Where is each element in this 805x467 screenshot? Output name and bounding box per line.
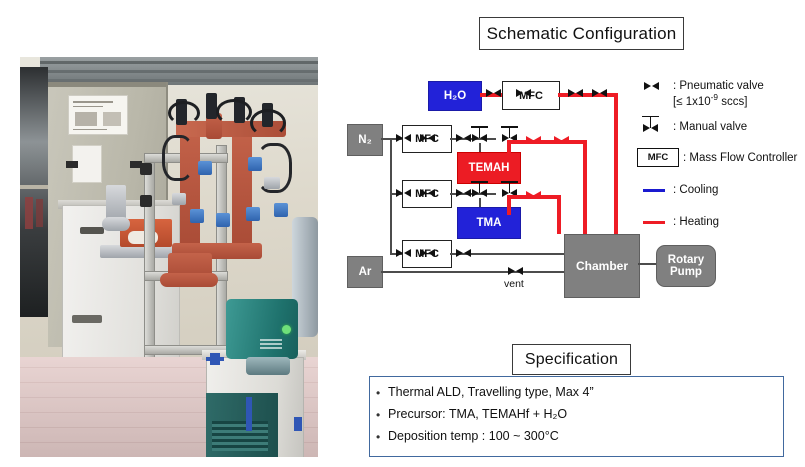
photo-blue-tape — [294, 417, 302, 431]
bullet-icon: • — [376, 408, 380, 422]
photo-frame-bracket — [140, 195, 152, 207]
photo-solenoid-valve — [248, 157, 262, 171]
photo-fitting — [172, 193, 186, 205]
photo-fitting — [264, 177, 280, 189]
heated-line-mfc-main — [558, 93, 618, 97]
pneumatic-valve-vent — [508, 267, 523, 276]
spec-item: • Thermal ALD, Travelling type, Max 4” — [388, 385, 783, 399]
schematic-title: Schematic Configuration — [479, 17, 684, 50]
heated-line-temah-to-main — [507, 140, 587, 144]
pneumatic-valve-temah-in — [456, 134, 471, 143]
photo-blue-tape — [246, 397, 252, 431]
cooling-line-icon — [637, 181, 673, 199]
pneumatic-valve-n2-2a — [396, 189, 411, 198]
pneumatic-valve-n2-1b — [420, 134, 435, 143]
pneumatic-valve-tma-out — [526, 191, 541, 200]
node-chamber: Chamber — [564, 234, 640, 298]
photo-pump-label — [260, 339, 282, 349]
pneumatic-valve-tma-in — [456, 189, 471, 198]
photo-reactor-flange — [160, 273, 218, 287]
spec-item: • Precursor: TMA, TEMAHf + H₂O — [388, 407, 783, 421]
photo-ceiling-rail — [40, 70, 318, 73]
photo-pump-handle — [246, 357, 290, 375]
spec-text: Thermal ALD, Travelling type, Max 4” — [388, 385, 594, 399]
pneumatic-valve-purge — [456, 249, 471, 258]
photo-window-object — [25, 197, 33, 229]
vent-label: vent — [504, 278, 524, 290]
photo-pump-indicator — [282, 325, 291, 334]
wire-n2-manifold — [390, 138, 392, 254]
pneumatic-valve-h2o-in — [486, 89, 501, 98]
legend-label-mfc: : Mass Flow Controller — [683, 150, 797, 165]
photo-cable-loop — [250, 109, 286, 137]
pneumatic-valve-h2o-out — [516, 89, 531, 98]
photo-window — [20, 67, 48, 317]
legend-label-cooling: : Cooling — [673, 182, 718, 197]
photo-cabinet-vent — [66, 161, 78, 168]
photo-reactor-column — [232, 123, 252, 251]
spec-text: Deposition temp : 100 ~ 300°C — [388, 429, 559, 443]
legend-sublabel-pneumatic-valve: [≤ 1x10-9 sccs] — [673, 93, 764, 109]
node-tma: TMA — [457, 207, 521, 239]
node-rotary-pump: Rotary Pump — [656, 245, 716, 287]
wire-ar-to-chamber — [381, 271, 564, 273]
manual-valve-tma-in — [471, 181, 488, 198]
bullet-icon: • — [376, 386, 380, 400]
legend-row-manual-valve: : Manual valve — [637, 116, 805, 134]
node-ar: Ar — [347, 256, 383, 288]
pneumatic-valve-temah-out — [526, 136, 541, 145]
specification-title: Specification — [512, 344, 631, 375]
pneumatic-valve-h2o-line — [568, 89, 583, 98]
heated-line-temah-down — [583, 140, 587, 234]
node-n2: N₂ — [347, 124, 383, 156]
spec-item: • Deposition temp : 100 ~ 300°C — [388, 429, 783, 443]
photo-solenoid-valve — [190, 209, 204, 223]
heated-line-main-down — [614, 93, 618, 234]
legend-row-heating: : Heating — [637, 213, 805, 231]
bullet-icon: • — [376, 430, 380, 444]
photo-cabinet-top — [48, 82, 166, 87]
pneumatic-valve-n2-3a — [396, 249, 411, 258]
pneumatic-valve-icon — [637, 78, 673, 96]
photo-chiller-vent — [212, 421, 268, 451]
photo-cable-loop — [162, 135, 194, 181]
photo-ceiling-rail — [40, 61, 318, 64]
pneumatic-valve-n2-2b — [420, 189, 435, 198]
legend-label-manual-valve: : Manual valve — [673, 116, 747, 134]
photo-cabinet-handle — [80, 227, 104, 234]
specification-box: • Thermal ALD, Travelling type, Max 4” •… — [369, 376, 784, 457]
photo-solenoid-valve — [274, 203, 288, 217]
legend-row-mfc: MFC : Mass Flow Controller — [637, 148, 805, 167]
node-h2o: H₂O — [428, 81, 482, 111]
spec-text: Precursor: TMA, TEMAHf + H₂O — [388, 407, 567, 421]
mfc-icon-label: MFC — [637, 148, 679, 167]
legend: : Pneumatic valve [≤ 1x10-9 sccs] : Manu… — [637, 78, 805, 235]
pneumatic-valve-h2o-main — [592, 89, 607, 98]
heating-line-icon — [637, 213, 673, 231]
photo-solenoid-valve — [246, 207, 260, 221]
photo-frame-bracket — [140, 163, 152, 175]
photo-cable-loop — [168, 101, 200, 125]
photo-cable-loop — [216, 99, 252, 125]
legend-label-heating: : Heating — [673, 214, 719, 229]
photo-actuator — [206, 93, 217, 119]
manual-valve-temah-in — [471, 126, 488, 143]
photo-solenoid-valve — [198, 161, 212, 175]
legend-label-pneumatic-valve: : Pneumatic valve — [673, 79, 764, 93]
mfc-h2o: MFC — [502, 81, 560, 110]
manual-valve-icon — [637, 116, 673, 134]
photo-window-frame — [20, 185, 48, 189]
photo-window-object — [36, 199, 43, 227]
pneumatic-valve-n2-1a — [396, 134, 411, 143]
ald-system-photo — [20, 57, 318, 457]
photo-posted-chart — [68, 95, 128, 135]
node-temah: TEMAH — [457, 152, 521, 184]
legend-row-pneumatic-valve: : Pneumatic valve [≤ 1x10-9 sccs] — [637, 78, 805, 110]
photo-solenoid-valve — [216, 213, 230, 227]
legend-row-cooling: : Cooling — [637, 181, 805, 199]
mfc-box-icon: MFC — [637, 148, 683, 167]
heated-line-tma-down — [557, 195, 561, 234]
photo-sensor-body — [102, 217, 130, 231]
photo-blue-tape — [206, 357, 224, 361]
photo-cabinet-handle — [72, 315, 102, 323]
pneumatic-valve-temah-main — [554, 136, 569, 145]
pneumatic-valve-n2-3b — [420, 249, 435, 258]
